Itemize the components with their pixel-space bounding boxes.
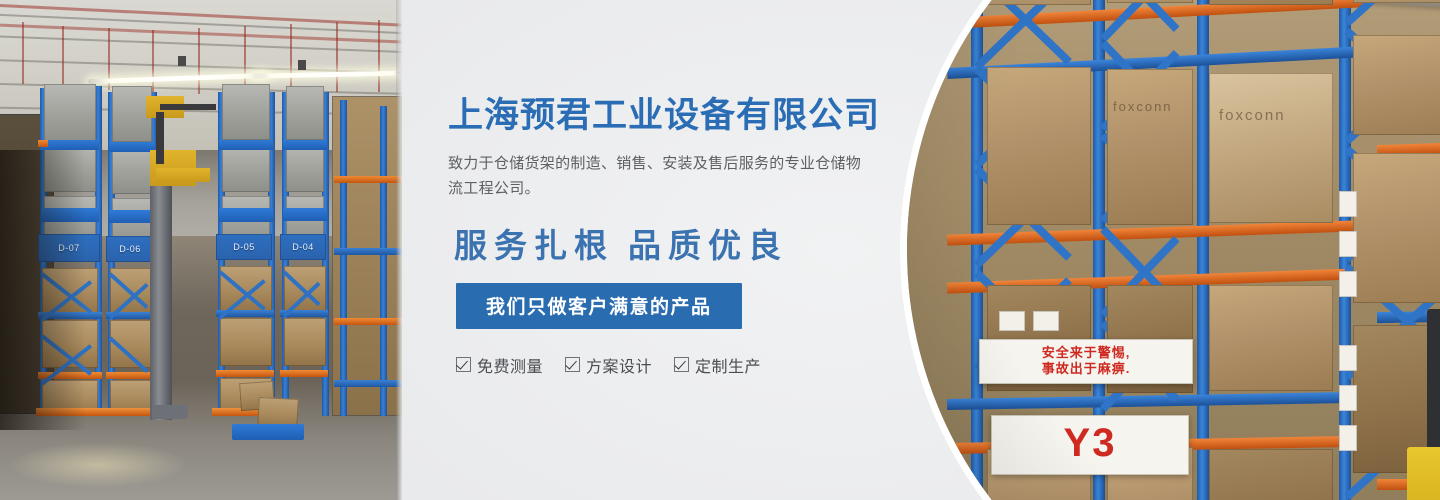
hanger-rod (22, 22, 24, 84)
left-warehouse-photo: D-07 D-06 (0, 0, 402, 500)
hanger-rod (244, 26, 246, 92)
feature-item-scheme-design[interactable]: 方案设计 (565, 353, 652, 377)
feature-list: 免费测量 方案设计 定制生产 (456, 353, 918, 377)
carton-stack (220, 266, 272, 312)
stacked-tote (286, 86, 324, 140)
aisle-label: D-04 (280, 242, 326, 252)
crane-base (152, 405, 188, 419)
hanger-rod (378, 20, 380, 92)
hanger-rod (152, 30, 154, 94)
company-subtitle: 致力于仓储货架的制造、销售、安装及售后服务的专业仓储物流工程公司。 (448, 152, 868, 201)
stacked-tote (286, 144, 324, 192)
feature-label: 方案设计 (586, 353, 652, 377)
company-title: 上海预君工业设备有限公司 (448, 96, 918, 136)
checkbox-checked-icon (674, 357, 689, 372)
hero-copy: 上海预君工业设备有限公司 致力于仓储货架的制造、销售、安装及售后服务的专业仓储物… (448, 96, 918, 377)
rack-beam-orange (216, 370, 274, 377)
rack-upright (340, 100, 347, 416)
feature-label: 免费测量 (477, 353, 543, 377)
rack-upright (380, 106, 387, 416)
stacked-tote (112, 146, 152, 194)
stacked-tote (222, 144, 270, 192)
rack-beam-orange (334, 176, 402, 183)
checkbox-checked-icon (565, 357, 580, 372)
right-warehouse-photo: foxconn foxconn foxconn foxconn foxconn (907, 0, 1440, 500)
hanger-rod (62, 26, 64, 86)
warehouse-scene: foxconn foxconn foxconn foxconn foxconn (907, 0, 1440, 500)
floor-light-reflection (8, 442, 188, 488)
crane-rail (160, 104, 216, 110)
crane-column (156, 112, 164, 164)
checkbox-checked-icon (456, 357, 471, 372)
sprinkler-head (298, 60, 306, 70)
cta-button[interactable]: 我们只做客户满意的产品 (456, 283, 742, 329)
blue-pallet (283, 208, 327, 221)
hanger-rod (198, 28, 200, 94)
rack-beam-blue (334, 248, 402, 255)
hero-slogan: 服务扎根品质优良 (454, 219, 918, 267)
sprinkler-head (178, 56, 186, 66)
crane-fork (156, 168, 210, 182)
aisle-label: D-06 (106, 244, 154, 254)
hanger-rod (290, 24, 292, 92)
hero-banner: D-07 D-06 (0, 0, 1440, 500)
carton-stack (220, 318, 272, 366)
hanger-rod (336, 22, 338, 92)
slogan-left: 服务扎根 (454, 229, 614, 265)
blue-pallet (232, 424, 304, 440)
carton-stack (284, 318, 326, 366)
left-shadow-gradient (0, 150, 86, 430)
feature-label: 定制生产 (695, 353, 761, 377)
right-photo-ring: foxconn foxconn foxconn foxconn foxconn (900, 0, 1440, 500)
rack-beam-blue (334, 380, 402, 387)
blue-pallet (283, 140, 327, 150)
stacked-tote (222, 84, 270, 140)
aisle-label: D-05 (216, 242, 272, 252)
blue-pallet (109, 210, 155, 223)
rack-beam-orange (334, 318, 402, 325)
rack-beam-orange (106, 372, 156, 379)
blue-pallet (219, 208, 273, 222)
rack-beam-orange (38, 140, 48, 147)
blue-pallet (109, 142, 155, 152)
photo-vignette (907, 0, 1440, 500)
stacker-crane-mast (150, 170, 172, 420)
feature-item-custom-production[interactable]: 定制生产 (674, 353, 761, 377)
blue-pallet (219, 140, 273, 150)
blue-pallet (41, 140, 99, 150)
slogan-right: 品质优良 (628, 229, 788, 265)
rack-beam-orange (280, 370, 328, 377)
feature-item-free-measure[interactable]: 免费测量 (456, 353, 543, 377)
stacked-tote (44, 84, 96, 142)
